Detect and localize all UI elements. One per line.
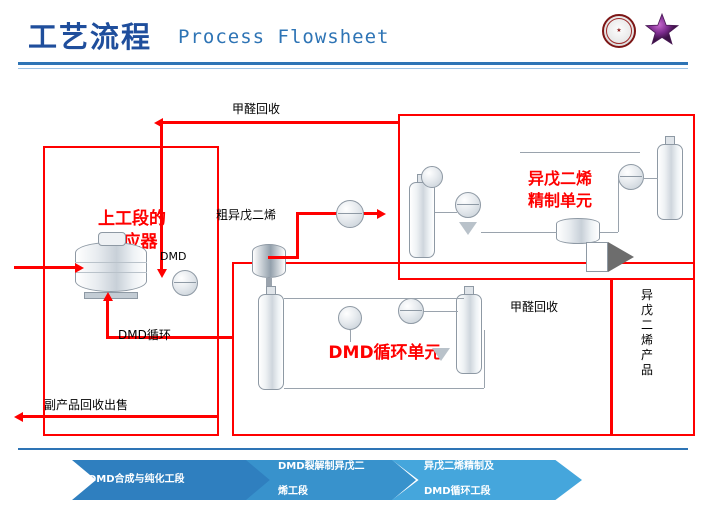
line-dmd-top — [284, 298, 464, 299]
equipment-pump-refining — [459, 222, 477, 235]
unit-label-refining-line2: 精制单元 — [490, 190, 630, 212]
stream-methylal-recovery-top — [162, 121, 398, 124]
equipment-condenser-refining-1 — [421, 166, 443, 188]
stream-dmd-recycle-riser — [106, 300, 109, 338]
line-dmd-pump1 — [350, 330, 351, 342]
star-logo — [644, 12, 680, 48]
stage-chevron-1[interactable]: DMD合成与纯化工段 — [72, 460, 272, 500]
label-methylal-recovery-top: 甲醛回收 — [232, 100, 280, 117]
equipment-exchanger-refining-2 — [618, 164, 644, 190]
header-divider-thin — [18, 68, 688, 69]
equipment-pump-dmd-2 — [432, 348, 450, 361]
equipment-reactor-line2 — [75, 272, 147, 273]
line-refining-3 — [600, 232, 618, 233]
label-dmd-recycle: DMD循环 — [118, 326, 171, 343]
line-refining-4 — [618, 178, 619, 232]
footer-divider — [18, 448, 688, 450]
stage-chevron-2-line2: 烯工段 — [262, 486, 371, 499]
line-dmd-right-riser — [484, 330, 485, 388]
equipment-exchanger-refining-2-bar — [620, 176, 642, 177]
stream-feed-inlet — [14, 266, 76, 269]
equipment-exchanger-crude — [336, 200, 364, 228]
label-isoprene-product: 异戊二烯产品 — [641, 288, 655, 378]
stream-isoprene-product-down — [610, 280, 613, 436]
page-title: 工艺流程 — [28, 14, 152, 56]
line-refining-1 — [435, 212, 457, 213]
unit-label-refining: 异戊二烯 精制单元 — [490, 168, 630, 211]
process-stage-bar: DMD合成与纯化工段 DMD裂解制异戊二 烯工段 异戊二烯精制及 DMD循环工段 — [0, 452, 706, 512]
stream-crude-isoprene-left — [296, 212, 320, 215]
equipment-reactor-vessel — [75, 242, 147, 292]
line-refining-2 — [481, 232, 557, 233]
label-byproduct-sale: 副产品回收出售 — [44, 396, 128, 413]
label-dmd: DMD — [160, 250, 186, 263]
stage-chevron-2[interactable]: DMD裂解制异戊二 烯工段 — [246, 460, 416, 500]
unit-label-reactor-line1: 上工段的 — [62, 208, 202, 231]
equipment-column-refining-1 — [409, 182, 435, 258]
equipment-column-dmd-right-top — [464, 286, 474, 295]
unit-label-refining-line1: 异戊二烯 — [490, 168, 630, 190]
equipment-exchanger-dmd-mid — [398, 298, 424, 324]
line-dmd-bottom — [284, 388, 484, 389]
equipment-exchanger-dmd-bar — [174, 282, 196, 283]
equipment-refining-drum — [556, 218, 600, 244]
line-refining-6 — [520, 152, 640, 153]
stream-methylal-recovery-drop — [160, 121, 163, 269]
equipment-exchanger-dmd-mid-bar — [400, 310, 422, 311]
equipment-column-dmd-left — [258, 294, 284, 390]
equipment-exchanger-crude-bar — [338, 213, 362, 214]
equipment-reactor-line1 — [75, 262, 147, 263]
label-crude-isoprene: 粗异戊二烯 — [216, 206, 276, 223]
equipment-product-box — [586, 242, 608, 272]
equipment-column-refining-2 — [657, 144, 683, 220]
line-dmd-mid — [424, 311, 458, 312]
company-seal-inner: ★ — [606, 18, 632, 44]
stage-chevron-3-line2: DMD循环工段 — [408, 486, 500, 499]
equipment-exchanger-refining — [455, 192, 481, 218]
equipment-exchanger-refining-bar — [457, 204, 479, 205]
stage-chevron-1-label: DMD合成与纯化工段 — [72, 474, 191, 487]
stream-crude-isoprene-base — [268, 256, 299, 259]
star-icon — [644, 12, 680, 48]
equipment-dmd-drum — [252, 244, 286, 278]
label-methylal-recovery-mid: 甲醛回收 — [510, 298, 558, 315]
equipment-pump-dmd-1-body — [338, 306, 362, 330]
company-seal-logo: ★ — [602, 14, 636, 48]
stream-byproduct-out — [22, 415, 218, 418]
stream-crude-isoprene-riser — [296, 212, 299, 258]
stage-chevron-3-line1: 异戊二烯精制及 — [408, 461, 500, 474]
stage-chevron-2-line1: DMD裂解制异戊二 — [262, 461, 371, 474]
page-subtitle: Process Flowsheet — [178, 26, 389, 48]
equipment-exchanger-dmd — [172, 270, 198, 296]
equipment-product-valve — [608, 242, 634, 272]
unit-label-dmd-cycle: DMD循环单元 — [285, 342, 485, 365]
equipment-column-dmd-right — [456, 294, 482, 374]
equipment-column-dmd-left-top — [266, 286, 276, 295]
header-divider-thick — [18, 62, 688, 65]
line-refining-5 — [644, 178, 658, 179]
equipment-reactor-top-nozzle — [98, 232, 126, 246]
stage-chevron-3[interactable]: 异戊二烯精制及 DMD循环工段 — [392, 460, 582, 500]
equipment-column-refining-2-top — [665, 136, 675, 145]
